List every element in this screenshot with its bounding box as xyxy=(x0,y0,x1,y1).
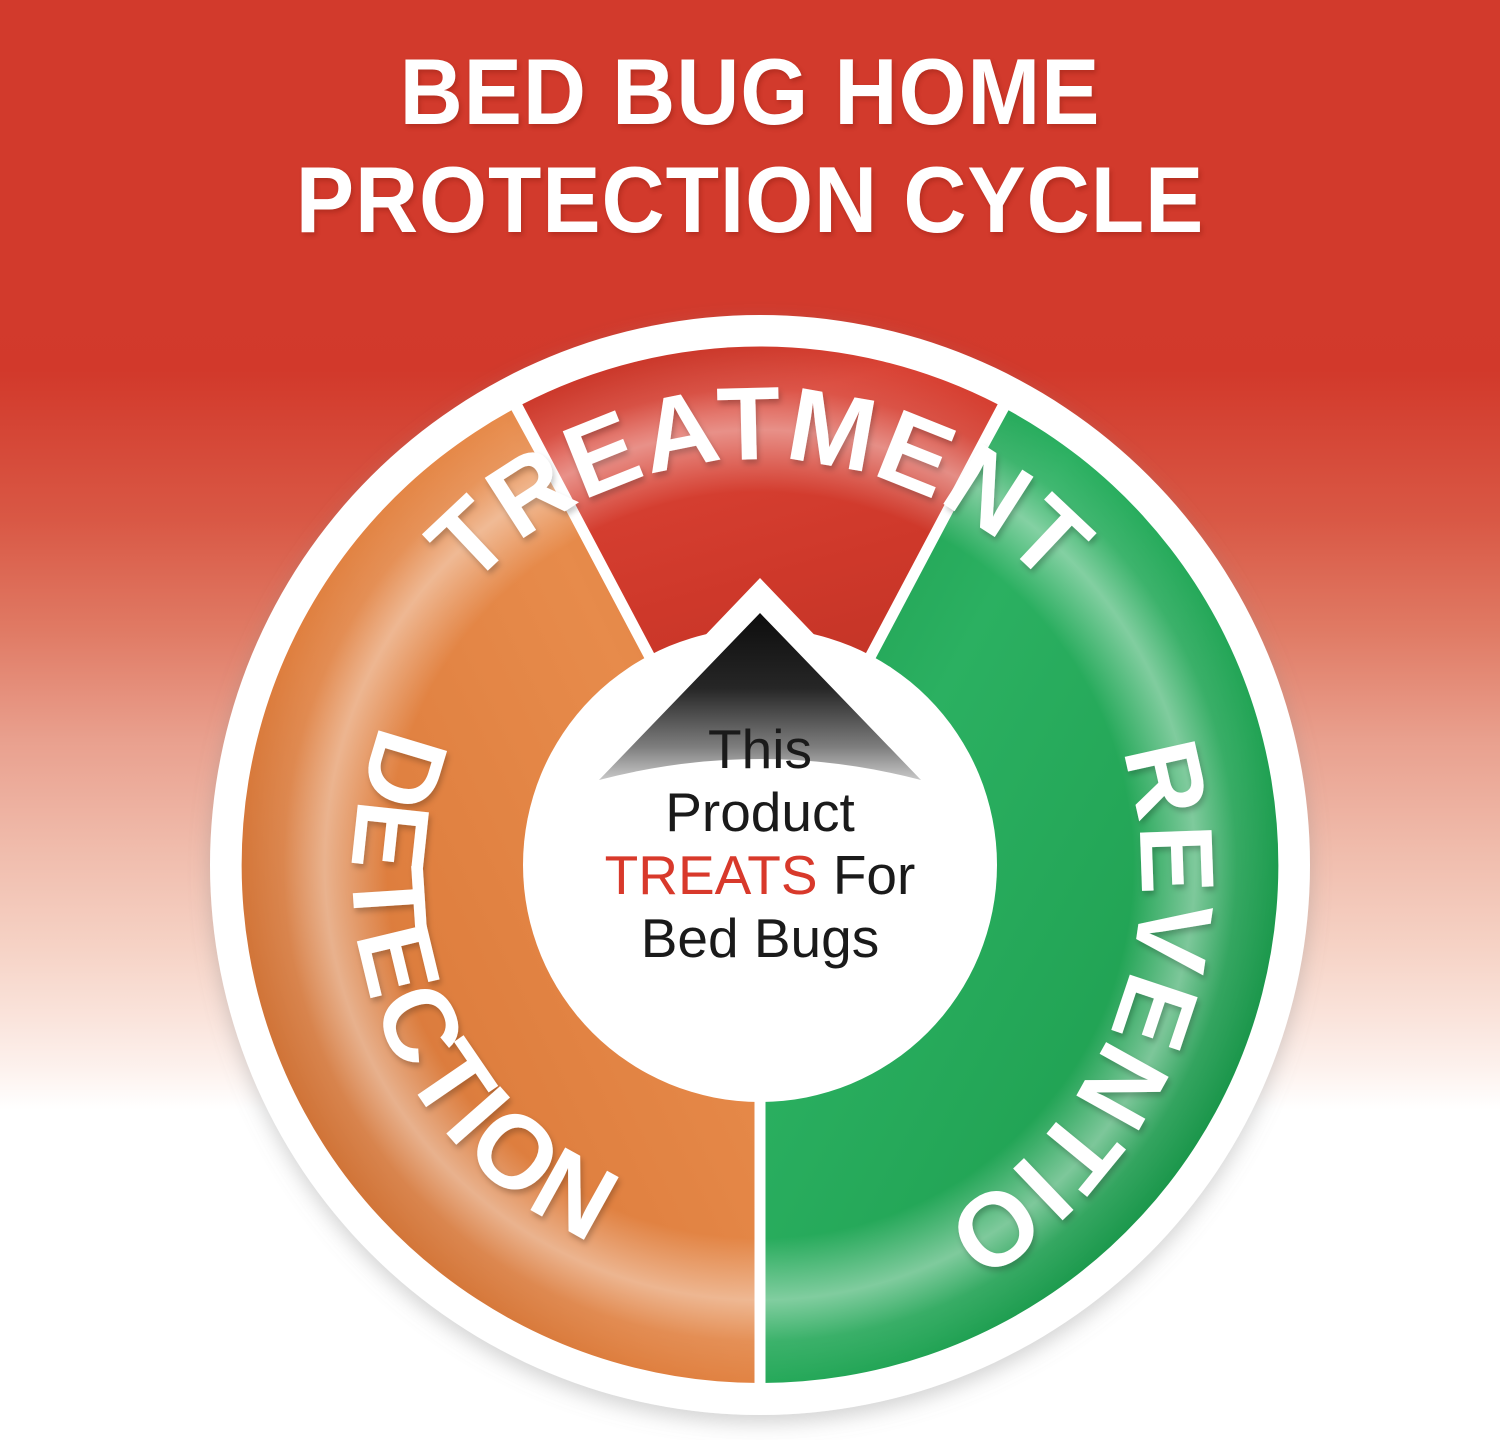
center-line-3-suffix: For xyxy=(818,844,916,906)
center-line-4: Bed Bugs xyxy=(523,907,997,970)
center-message: This Product TREATS For Bed Bugs xyxy=(523,718,997,970)
poster-canvas: BED BUG HOME PROTECTION CYCLE xyxy=(0,0,1500,1440)
center-line-2: Product xyxy=(523,781,997,844)
page-title: BED BUG HOME PROTECTION CYCLE xyxy=(0,38,1500,254)
title-line-2: PROTECTION CYCLE xyxy=(53,146,1448,254)
center-line-3: TREATS For xyxy=(523,844,997,907)
title-line-1: BED BUG HOME xyxy=(53,38,1448,146)
treats-highlight: TREATS xyxy=(605,844,818,906)
center-line-1: This xyxy=(523,718,997,781)
